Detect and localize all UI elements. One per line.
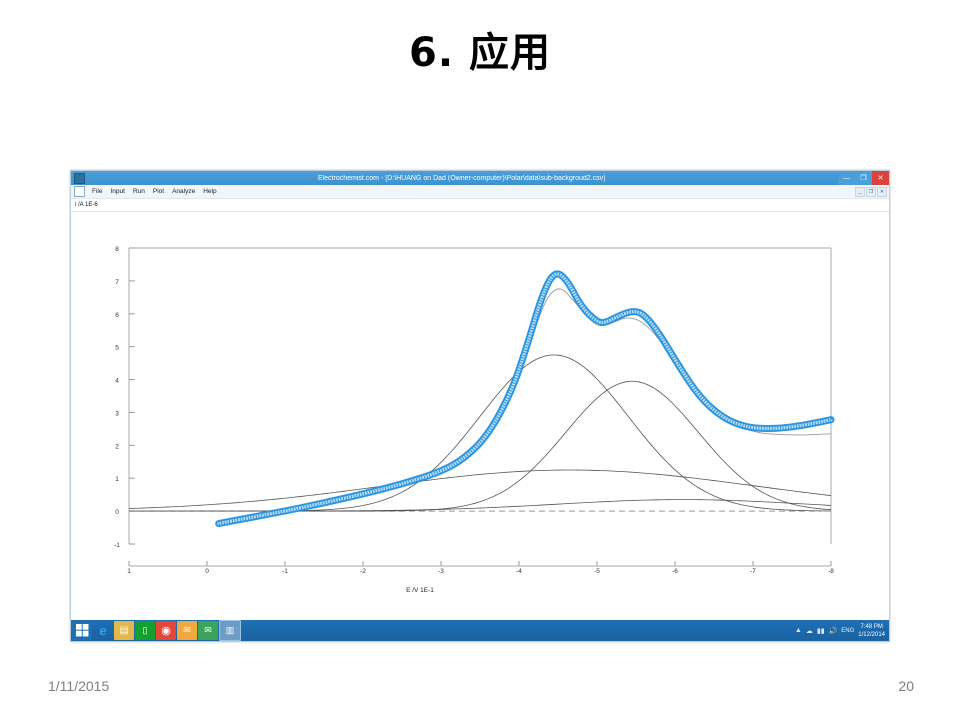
maximize-button[interactable]: ❐: [855, 171, 872, 185]
component-curve: [129, 500, 831, 512]
page-title: 6. 应用: [0, 20, 960, 78]
close-button[interactable]: ✕: [872, 171, 889, 185]
tray-network-icon[interactable]: ☁: [806, 627, 813, 635]
x-axis-label: E /V 1E-1: [406, 587, 434, 594]
y-tick-label: 6: [115, 312, 119, 319]
chrome-icon[interactable]: ◉: [156, 621, 176, 640]
windows-taskbar: e ▤ ▯ ◉ ✉ ✉ ▥ ▲ ☁ ▮▮ 🔊 ENG 7:48 PM 1/12/…: [71, 620, 889, 641]
tray-expand-icon[interactable]: ▲: [795, 627, 802, 634]
y-tick-label: 3: [115, 410, 119, 417]
slide-footer-date: 1/11/2015: [48, 678, 109, 694]
measured-data-marker-fill: [219, 274, 831, 524]
menu-item-analyze[interactable]: Analyze: [168, 188, 199, 195]
y-tick-label: 1: [115, 476, 119, 483]
x-tick-label: -6: [672, 568, 678, 575]
component-curve: [129, 470, 831, 509]
x-tick-label: 1: [127, 568, 131, 575]
x-tick-label: -7: [750, 568, 756, 575]
document-icon: [74, 186, 85, 197]
menu-item-help[interactable]: Help: [199, 188, 220, 195]
store-icon[interactable]: ▯: [135, 621, 155, 640]
x-tick-label: -1: [282, 568, 288, 575]
document-header-strip: i /A 1E-6: [71, 199, 889, 212]
tray-date: 1/12/2014: [858, 632, 885, 638]
y-tick-label: 0: [115, 509, 119, 516]
window-titlebar: Electrochemist.com - [D:\HUANG on Dad (O…: [71, 171, 889, 185]
menu-item-file[interactable]: File: [88, 188, 106, 195]
app-icon: [74, 173, 85, 184]
application-window-screenshot: Electrochemist.com - [D:\HUANG on Dad (O…: [70, 170, 890, 642]
menu-item-input[interactable]: Input: [106, 188, 128, 195]
mdi-window-controls: _ ❐ ✕: [855, 187, 889, 197]
file-explorer-icon[interactable]: ▤: [114, 621, 134, 640]
y-tick-label: 8: [115, 246, 119, 253]
mdi-restore-button[interactable]: ❐: [866, 187, 876, 197]
plot-area: 876543210-110-1-2-3-4-5-6-7-8E /V 1E-1: [71, 212, 889, 610]
component-curve: [129, 355, 831, 511]
slide-canvas: 6. 应用 Electrochemist.com - [D:\HUANG on …: [0, 0, 960, 720]
menu-item-run[interactable]: Run: [129, 188, 149, 195]
tray-clock[interactable]: 7:48 PM 1/12/2014: [858, 623, 885, 639]
mdi-close-button[interactable]: ✕: [877, 187, 887, 197]
tray-language-indicator[interactable]: ENG: [841, 628, 854, 634]
y-tick-label: 7: [115, 279, 119, 286]
y-axis-unit-label: i /A 1E-6: [71, 202, 98, 208]
tray-battery-icon[interactable]: ▮▮: [817, 627, 825, 635]
x-tick-label: -3: [438, 568, 444, 575]
measured-data-curve: [219, 274, 831, 524]
x-tick-label: -2: [360, 568, 366, 575]
foxmail-icon[interactable]: ✉: [198, 621, 218, 640]
system-tray: ▲ ☁ ▮▮ 🔊 ENG 7:48 PM 1/12/2014: [795, 620, 889, 641]
internet-explorer-icon[interactable]: e: [93, 621, 113, 640]
tray-volume-icon[interactable]: 🔊: [829, 627, 838, 635]
menu-bar: File Input Run Plot Analyze Help _ ❐ ✕: [71, 185, 889, 199]
mail-icon[interactable]: ✉: [177, 621, 197, 640]
y-tick-label: 2: [115, 443, 119, 450]
mdi-minimize-button[interactable]: _: [855, 187, 865, 197]
voltammogram-chart: 876543210-110-1-2-3-4-5-6-7-8E /V 1E-1: [71, 212, 889, 610]
menu-item-plot[interactable]: Plot: [149, 188, 168, 195]
x-tick-label: -4: [516, 568, 522, 575]
windows-start-icon[interactable]: [72, 621, 92, 640]
electrochemist-app-icon[interactable]: ▥: [219, 620, 241, 641]
measured-data-markers: [219, 274, 831, 524]
y-tick-label: 5: [115, 345, 119, 352]
y-tick-label: 4: [115, 378, 119, 385]
window-title: Electrochemist.com - [D:\HUANG on Dad (O…: [85, 175, 838, 182]
slide-page-number: 20: [898, 678, 914, 694]
tray-time: 7:48 PM: [860, 624, 882, 630]
minimize-button[interactable]: —: [838, 171, 855, 185]
x-tick-label: -5: [594, 568, 600, 575]
x-tick-label: -8: [828, 568, 834, 575]
fitted-sum-curve: [219, 289, 831, 523]
y-tick-label: -1: [114, 542, 120, 549]
x-tick-label: 0: [205, 568, 209, 575]
